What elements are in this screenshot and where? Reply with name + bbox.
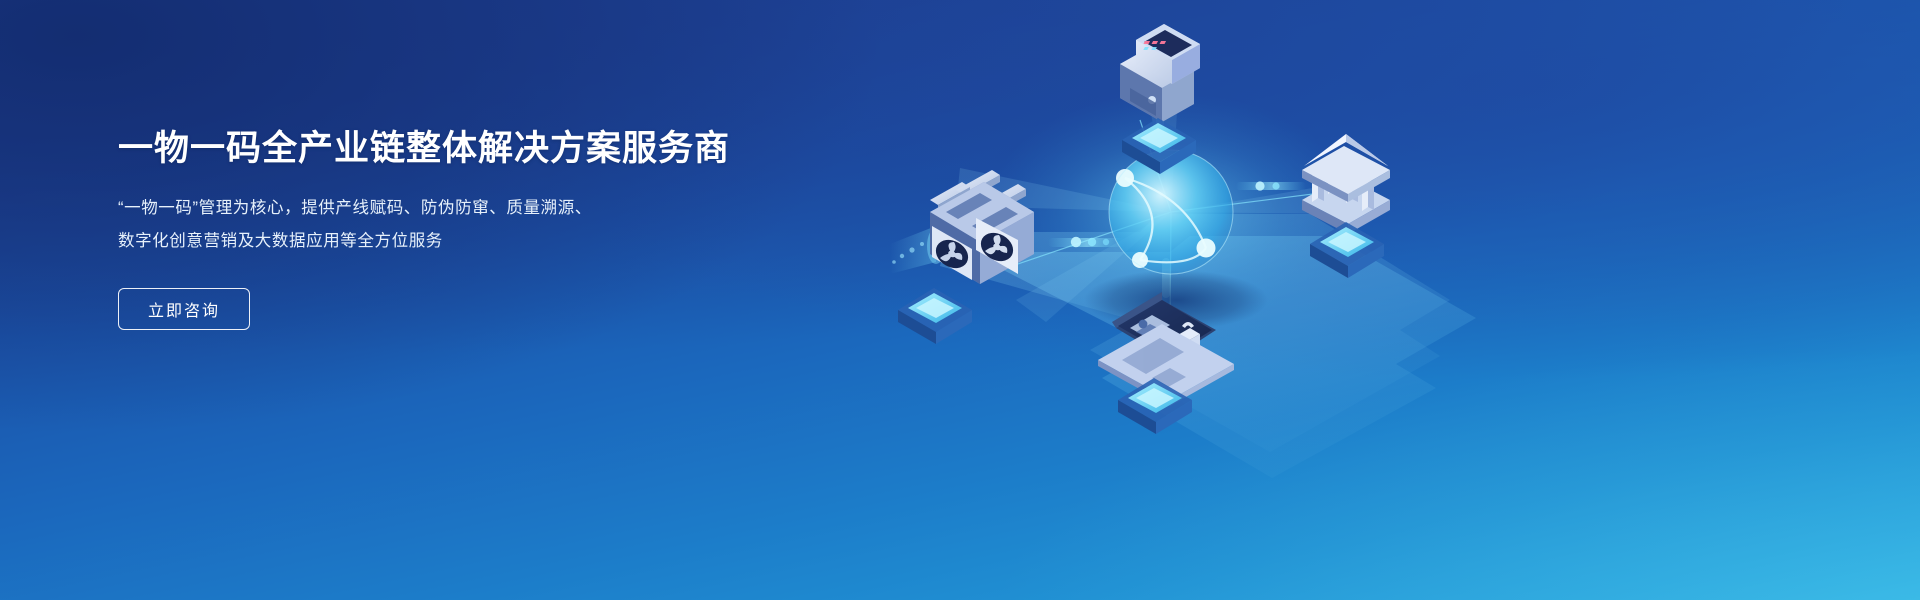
isometric-iot-network-illustration: [840, 0, 1920, 600]
page-title: 一物一码全产业链整体解决方案服务商: [118, 128, 818, 170]
hero-subtitle: “一物一码”管理为核心，提供产线赋码、防伪防窜、质量溯源、 数字化创意营销及大数…: [118, 192, 678, 258]
hero-copy: 一物一码全产业链整体解决方案服务商 “一物一码”管理为核心，提供产线赋码、防伪防…: [118, 128, 818, 330]
pedestal-server: [898, 288, 972, 344]
hero-banner: 一物一码全产业链整体解决方案服务商 “一物一码”管理为核心，提供产线赋码、防伪防…: [0, 0, 1920, 600]
network-sphere: [1109, 150, 1233, 274]
hero-subtitle-line-1: “一物一码”管理为核心，提供产线赋码、防伪防窜、质量溯源、: [118, 192, 678, 225]
hero-subtitle-line-2: 数字化创意营销及大数据应用等全方位服务: [118, 225, 678, 258]
consult-now-button[interactable]: 立即咨询: [118, 288, 250, 330]
